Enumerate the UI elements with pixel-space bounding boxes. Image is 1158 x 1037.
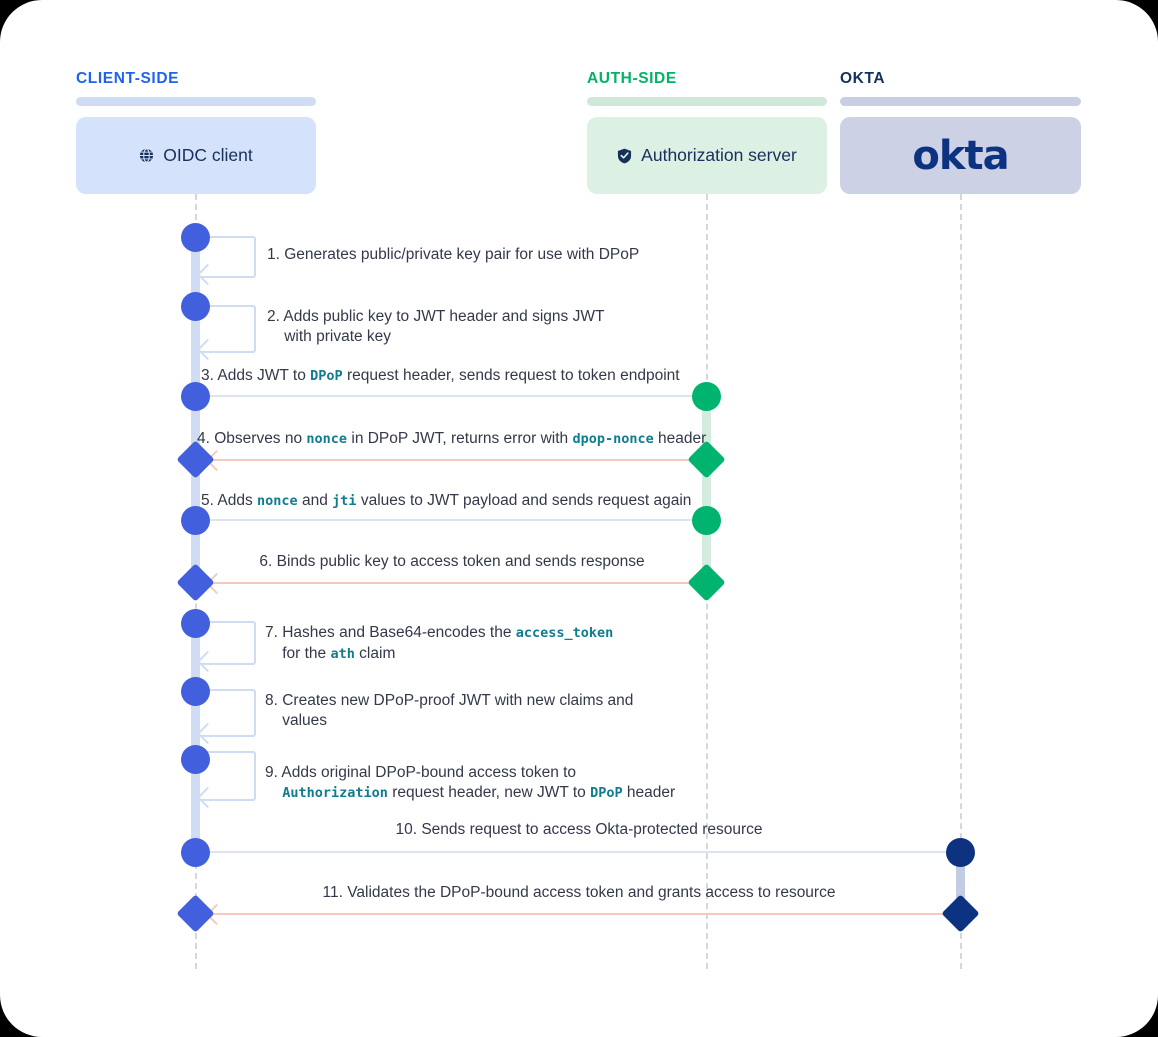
marker-step-5-client bbox=[181, 506, 210, 535]
code-nonce: nonce bbox=[306, 431, 347, 447]
code-nonce-2: nonce bbox=[257, 493, 298, 509]
step-label-4: 4. Observes no nonce in DPoP JWT, return… bbox=[197, 429, 706, 450]
globe-icon bbox=[139, 148, 154, 163]
arrow-step-11 bbox=[208, 913, 962, 915]
column-rule-client-side bbox=[76, 97, 316, 106]
marker-step-8 bbox=[181, 677, 210, 706]
okta-logo: okta bbox=[912, 133, 1008, 179]
marker-step-3-client bbox=[181, 382, 210, 411]
step-label-8: 8. Creates new DPoP-proof JWT with new c… bbox=[265, 691, 633, 730]
step-label-11: 11. Validates the DPoP-bound access toke… bbox=[196, 883, 962, 903]
column-title-auth-side: AUTH-SIDE bbox=[587, 70, 677, 88]
step-label-9: 9. Adds original DPoP-bound access token… bbox=[265, 763, 675, 803]
marker-step-10-client bbox=[181, 838, 210, 867]
marker-step-1 bbox=[181, 223, 210, 252]
shield-check-icon bbox=[617, 148, 632, 164]
column-rule-auth-side bbox=[587, 97, 827, 106]
code-dpop: DPoP bbox=[310, 368, 343, 384]
actor-box-authorization-server[interactable]: Authorization server bbox=[587, 117, 827, 194]
step-label-10: 10. Sends request to access Okta-protect… bbox=[196, 820, 962, 840]
arrow-step-3 bbox=[196, 395, 706, 397]
actor-box-oidc-client[interactable]: OIDC client bbox=[76, 117, 316, 194]
actor-label-authorization-server: Authorization server bbox=[641, 145, 797, 166]
code-authorization: Authorization bbox=[282, 785, 388, 801]
marker-step-2 bbox=[181, 292, 210, 321]
arrow-step-10 bbox=[196, 851, 960, 853]
column-title-okta: OKTA bbox=[840, 70, 885, 88]
column-title-client-side: CLIENT-SIDE bbox=[76, 70, 179, 88]
step-label-7: 7. Hashes and Base64-encodes the access_… bbox=[265, 623, 613, 664]
actor-box-okta[interactable]: okta bbox=[840, 117, 1081, 194]
code-access-token: access_token bbox=[516, 625, 614, 641]
step-label-2: 2. Adds public key to JWT header and sig… bbox=[267, 307, 604, 346]
marker-step-7 bbox=[181, 609, 210, 638]
arrow-step-5 bbox=[196, 519, 706, 521]
code-jti: jti bbox=[332, 493, 356, 509]
arrow-step-6 bbox=[208, 582, 708, 584]
code-dpop-3: DPoP bbox=[590, 785, 623, 801]
marker-step-10-okta bbox=[946, 838, 975, 867]
code-ath: ath bbox=[330, 646, 354, 662]
marker-step-3-auth bbox=[692, 382, 721, 411]
column-rule-okta bbox=[840, 97, 1081, 106]
step-label-5: 5. Adds nonce and jti values to JWT payl… bbox=[201, 491, 691, 512]
arrow-step-4 bbox=[208, 459, 708, 461]
step-label-6: 6. Binds public key to access token and … bbox=[196, 552, 708, 572]
diagram-card: CLIENT-SIDE OIDC client AUTH-SIDE Author… bbox=[0, 0, 1158, 1037]
marker-step-9 bbox=[181, 745, 210, 774]
code-dpop-nonce: dpop-nonce bbox=[572, 431, 653, 447]
marker-step-5-auth bbox=[692, 506, 721, 535]
step-label-1: 1. Generates public/private key pair for… bbox=[267, 245, 639, 265]
step-label-3: 3. Adds JWT to DPoP request header, send… bbox=[201, 366, 680, 387]
actor-label-oidc-client: OIDC client bbox=[163, 145, 252, 166]
